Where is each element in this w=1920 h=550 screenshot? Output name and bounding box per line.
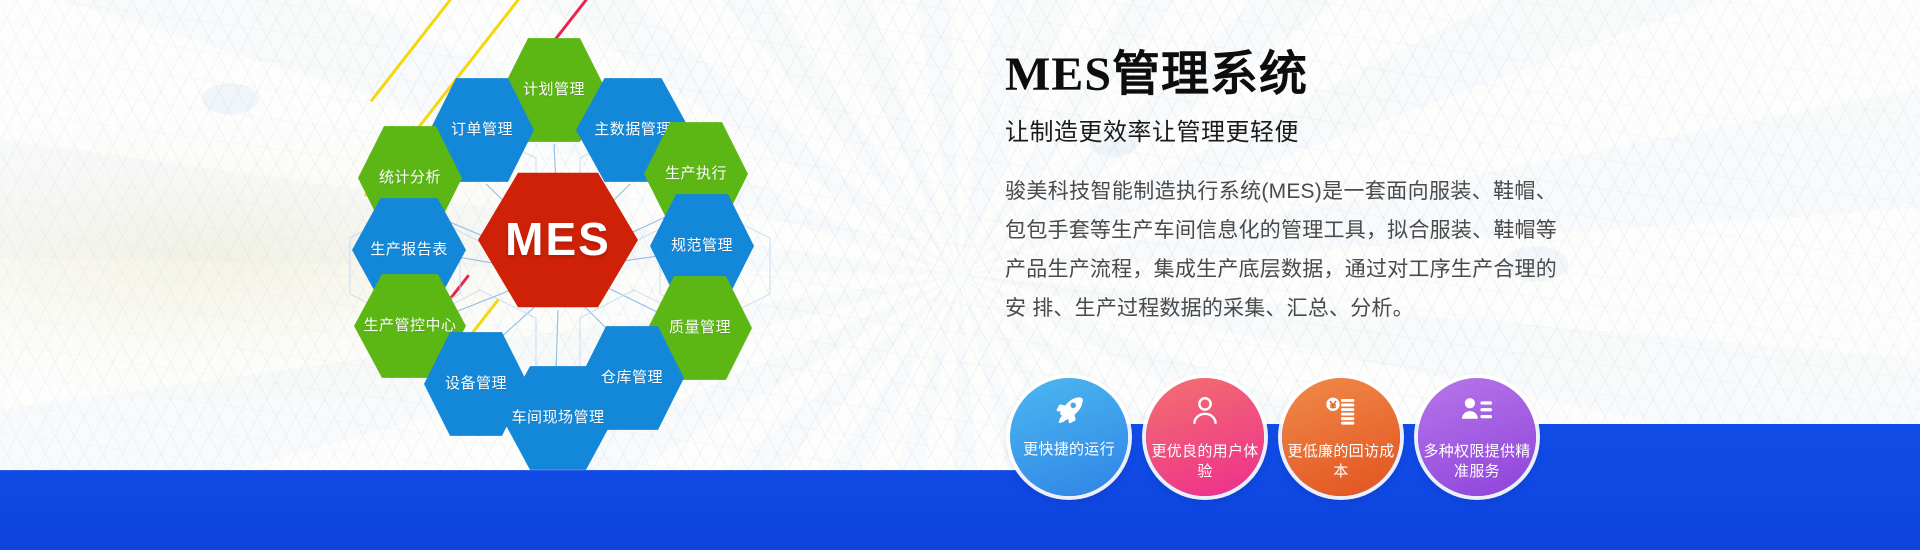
hex-node-label: 主数据管理	[594, 121, 672, 140]
feature-badge-better-ux[interactable]: 更优良的用户体验	[1146, 378, 1264, 496]
hex-node-label: 设备管理	[445, 375, 507, 394]
rocket-icon	[1050, 392, 1088, 430]
feature-badge-label: 更优良的用户体验	[1146, 442, 1264, 483]
hex-node-label: 仓库管理	[601, 369, 663, 388]
page-subtitle: 让制造更效率让管理更轻便	[1005, 112, 1605, 147]
hex-node-label: 统计分析	[379, 169, 441, 188]
feature-badge-list: 更快捷的运行 更优良的用户体验	[1010, 378, 1536, 496]
hex-core-label: MES	[505, 211, 611, 269]
hex-node-label: 质量管理	[669, 319, 731, 338]
hex-node-label: 生产报告表	[370, 241, 448, 260]
feature-badge-lower-cost[interactable]: 更低廉的回访成本	[1282, 378, 1400, 496]
hex-node-label: 规范管理	[671, 237, 733, 256]
headline-block: MES管理系统 让制造更效率让管理更轻便 骏美科技智能制造执行系统(MES)是一…	[1005, 50, 1605, 329]
hex-node-label: 生产执行	[665, 165, 727, 184]
feature-badge-faster-runtime[interactable]: 更快捷的运行	[1010, 378, 1128, 496]
user-list-icon	[1458, 392, 1496, 430]
hex-node-label: 订单管理	[451, 121, 513, 140]
feature-badge-label: 更低廉的回访成本	[1282, 442, 1400, 483]
feature-badge-label: 更快捷的运行	[1023, 440, 1115, 460]
user-icon	[1186, 392, 1224, 430]
coins-icon	[1322, 392, 1360, 430]
intro-paragraph: 骏美科技智能制造执行系统(MES)是一套面向服装、鞋帽、包包手套等生产车间信息化…	[1005, 173, 1557, 328]
feature-badge-permissions[interactable]: 多种权限提供精准服务	[1418, 378, 1536, 496]
hex-node-label: 生产管控中心	[363, 317, 456, 336]
mes-hex-diagram: MES 计划管理 订单管理 主数据管理 统计分析 生产执行 生产报告表 规范管理…	[330, 18, 850, 528]
mes-banner: MES 计划管理 订单管理 主数据管理 统计分析 生产执行 生产报告表 规范管理…	[0, 0, 1920, 550]
hex-node-label: 计划管理	[523, 81, 585, 100]
feature-badge-label: 多种权限提供精准服务	[1418, 442, 1536, 483]
hex-node-label: 车间现场管理	[511, 409, 604, 428]
page-title: MES管理系统	[1005, 50, 1605, 100]
